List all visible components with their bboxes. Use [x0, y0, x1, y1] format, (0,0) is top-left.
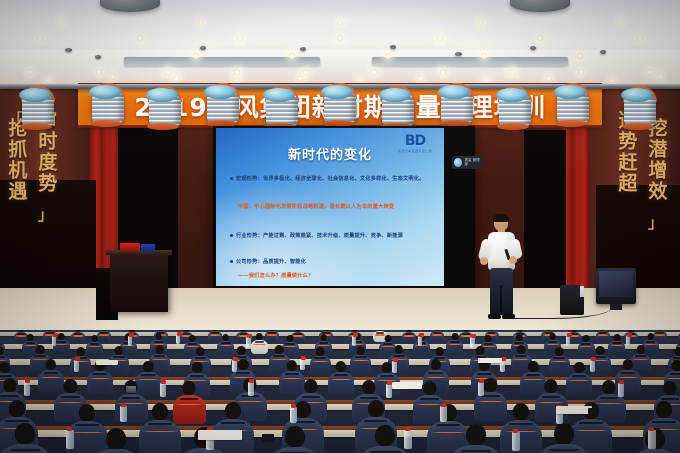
audience-head — [256, 333, 263, 340]
water-bottle — [470, 337, 475, 348]
ceiling-downlight — [637, 35, 643, 41]
uniform-collar — [548, 341, 558, 343]
uniform-collar — [600, 397, 618, 399]
audience-uniform — [89, 449, 143, 453]
uniform-collar — [113, 356, 125, 358]
uniform-collar — [572, 375, 587, 377]
audience-uniform — [177, 448, 231, 453]
uniform-collar — [285, 373, 300, 375]
water-bottle — [590, 360, 595, 372]
bullet-dot-icon — [230, 234, 233, 237]
stage-spotlight — [620, 92, 660, 128]
audience-member — [89, 428, 143, 453]
uniform-collar — [515, 355, 527, 357]
handout-paper — [478, 358, 502, 363]
audience-head — [663, 381, 676, 395]
uniform-collar — [549, 449, 579, 451]
ceiling-downlight — [338, 20, 343, 25]
ceiling-downlight — [481, 53, 487, 59]
ceiling-downlight — [37, 35, 43, 41]
ceiling-downlight — [610, 78, 615, 83]
audience-uniform — [71, 332, 85, 343]
uniform-collar — [364, 420, 388, 422]
uniform-collar — [553, 357, 565, 359]
handout-paper — [556, 406, 592, 414]
slide-bullet-text: 宏观形势：世界多极化、经济全球化、社会信息化、文化多样化、生态文明化。 — [236, 176, 425, 182]
audience-uniform — [608, 341, 625, 355]
water-bottle — [66, 430, 74, 449]
ceiling-downlight — [546, 76, 551, 81]
audience-head — [336, 361, 346, 372]
water-bottle — [478, 382, 484, 396]
audience-uniform — [328, 372, 354, 395]
uniform-shoulder-stripe — [252, 344, 266, 346]
ceiling-downlight — [198, 20, 203, 25]
uniform-collar — [141, 374, 156, 376]
audience-uniform — [0, 444, 52, 453]
audience-uniform — [537, 444, 591, 453]
badge-label: 质量 管理部 — [464, 159, 482, 167]
water-bottle — [386, 384, 392, 398]
stage-spotlight — [437, 89, 477, 125]
uniform-collar — [56, 341, 66, 343]
water-bottle — [648, 430, 656, 449]
ceiling-downlight — [658, 74, 663, 79]
audience-head — [196, 347, 205, 356]
uniform-shoulder-stripe — [72, 335, 84, 337]
uniform-collar — [314, 357, 326, 359]
uniform-collar — [148, 423, 172, 425]
water-bottle — [300, 359, 305, 370]
audience-head — [91, 335, 98, 342]
audience-member — [139, 403, 181, 453]
water-bottle — [176, 335, 180, 344]
handout-paper — [198, 430, 242, 440]
audience-head — [115, 346, 124, 355]
audience-head — [316, 347, 325, 356]
spotlight-lens — [554, 85, 586, 99]
audience-head — [647, 333, 654, 340]
water-bottle — [232, 360, 237, 372]
slide-subtext: 中国：中心国际化发展阶段战略机遇，是长期以人为本的重大转变 — [238, 203, 440, 211]
spotlight-ring — [497, 123, 529, 130]
bullet-dot-icon — [230, 260, 233, 263]
spotlight-ring — [90, 120, 122, 127]
audience-head — [0, 362, 10, 373]
spotlight-ring — [622, 123, 654, 130]
audience-head — [574, 362, 584, 373]
audience-head — [183, 381, 196, 395]
ceiling-downlight — [110, 74, 115, 79]
spotlight-lens — [379, 88, 411, 102]
uniform-collar — [255, 341, 265, 343]
audience-member — [537, 423, 591, 453]
water-bottle — [24, 382, 30, 396]
audience-head — [395, 345, 404, 354]
slide-bullet-text: 公司形势：品质提升、智能化 — [236, 259, 306, 265]
audience-head — [375, 425, 395, 446]
water-bottle — [74, 360, 79, 372]
audience-head — [36, 345, 45, 354]
blue-monitor — [141, 244, 155, 252]
stage-spotlight — [18, 92, 58, 128]
presenter-hair — [493, 214, 509, 222]
uniform-shoulder-stripe — [504, 431, 539, 433]
audience-head — [58, 333, 65, 340]
uniform-shoulder-stripe — [610, 345, 624, 347]
handout-paper — [392, 382, 422, 389]
ceiling-speaker — [530, 46, 536, 50]
ceiling-downlight — [484, 78, 489, 83]
bullet-dot-icon — [230, 177, 233, 180]
stage-spotlight — [145, 92, 185, 128]
audience-head — [623, 359, 633, 370]
audience-member — [268, 426, 322, 453]
stage-spotlight — [553, 89, 593, 125]
uniform-collar — [526, 374, 541, 376]
mobile-phone — [262, 434, 274, 442]
audience-member — [251, 333, 268, 354]
ceiling-downlight — [647, 69, 653, 75]
audience-head — [596, 346, 605, 355]
uniform-collar — [221, 422, 245, 424]
podium — [110, 252, 168, 312]
audience-head — [77, 347, 86, 356]
uniform-shoulder-stripe — [142, 431, 177, 433]
audience-head — [423, 381, 436, 395]
uniform-collar — [393, 355, 405, 357]
audience-head — [517, 345, 526, 354]
audience-head — [295, 401, 311, 418]
audience-head — [555, 347, 564, 356]
uniform-collar — [195, 357, 207, 359]
stage-spotlight — [203, 89, 243, 125]
uniform-collar — [302, 396, 320, 398]
uniform-shoulder-stripe — [568, 380, 590, 382]
audience-head — [9, 400, 25, 417]
spotlight-lens — [321, 85, 353, 99]
ceiling-downlight — [298, 76, 303, 81]
uniform-collar — [370, 451, 400, 453]
audience-head — [516, 334, 523, 341]
uniform-collar — [652, 421, 676, 423]
ceiling-speaker — [390, 45, 396, 49]
presenter-leg-gap — [500, 285, 502, 315]
ceiling-downlight — [46, 78, 51, 83]
stage-spotlight — [495, 92, 535, 128]
logo-subtitle: 东风汽车集团有限公司 — [398, 149, 432, 153]
uniform-collar — [673, 357, 680, 359]
water-bottle — [418, 336, 422, 346]
audience-head — [513, 403, 529, 420]
banner-bracket-icon: 」 — [648, 212, 663, 233]
audience-head — [675, 347, 680, 356]
uniform-collar — [10, 449, 40, 451]
slide-bullet: 行业形势：产能过剩、政策趋紧、技术升级、质量提升、竞争、新能源 — [230, 232, 432, 240]
uniform-collar — [90, 343, 100, 345]
spotlight-lens — [89, 85, 121, 99]
audience-member — [328, 361, 354, 395]
slide-question-text: ——我们怎么办？质量做什么？ — [238, 272, 440, 280]
ceiling-speaker — [65, 48, 72, 52]
audience-member — [71, 330, 85, 343]
ceiling-downlight — [174, 76, 179, 81]
uniform-shoulder-stripe — [431, 334, 443, 336]
uniform-collar — [670, 373, 680, 375]
ceiling-downlight — [289, 53, 295, 59]
spotlight-ring — [555, 120, 587, 127]
audience-head — [287, 360, 297, 371]
uniform-shoulder-stripe — [425, 377, 447, 379]
audience-uniform — [268, 447, 322, 453]
uniform-collar — [334, 374, 349, 376]
uniform-collar — [0, 356, 5, 358]
audience-member — [430, 330, 444, 342]
audience-head — [304, 379, 317, 393]
uniform-collar — [319, 342, 329, 344]
audience-head — [368, 400, 384, 417]
audience-head — [656, 401, 672, 418]
ceiling-downlight — [27, 69, 33, 75]
water-bottle — [120, 406, 127, 422]
audience-uniform — [628, 449, 680, 453]
audience-head — [237, 346, 246, 355]
stage-spotlight — [262, 92, 302, 128]
audience-head — [545, 379, 558, 393]
ceiling-downlight — [478, 20, 483, 25]
audience-head — [476, 346, 485, 355]
uniform-collar — [420, 398, 438, 400]
water-bottle — [52, 336, 56, 346]
audience-head — [155, 345, 164, 354]
uniform-shoulder-stripe — [546, 344, 560, 346]
audience-uniform — [449, 445, 503, 453]
presenter — [478, 215, 524, 321]
uniform-collar — [461, 450, 491, 452]
water-bottle — [352, 336, 356, 346]
mobile-phone — [588, 408, 597, 414]
logo-mark: BD — [398, 134, 432, 148]
audience-head — [27, 334, 34, 341]
uniform-collar — [273, 355, 285, 357]
uniform-shoulder-stripe — [330, 379, 352, 381]
uniform-collar — [5, 420, 29, 422]
presenter-hand-right — [509, 256, 517, 264]
ceiling-downlight — [237, 35, 243, 41]
ceiling-downlight — [303, 69, 309, 75]
audience-uniform — [566, 373, 592, 396]
spotlight-lens — [146, 88, 178, 102]
uniform-collar — [154, 355, 166, 357]
mobile-phone-screen — [126, 386, 136, 393]
water-bottle — [618, 383, 624, 397]
ceiling-downlight — [337, 35, 343, 41]
audience-head — [583, 335, 590, 342]
uniform-collar — [450, 341, 460, 343]
audience-area — [0, 330, 680, 453]
water-bottle — [248, 382, 254, 396]
uniform-collar — [75, 424, 99, 426]
spotlight-lens — [204, 85, 236, 99]
audience-uniform — [139, 420, 181, 453]
audience-member — [87, 360, 113, 394]
uniform-collar — [621, 372, 636, 374]
ceiling-speaker — [200, 46, 206, 50]
ceiling-speaker — [95, 55, 101, 59]
uniform-collar — [509, 423, 533, 425]
audience-member — [0, 423, 52, 453]
audience-uniform — [430, 331, 444, 342]
uniform-shoulder-stripe — [448, 344, 462, 346]
water-bottle — [246, 337, 251, 348]
audience-member — [566, 362, 592, 396]
uniform-collar — [612, 342, 622, 344]
audience-head — [320, 334, 327, 341]
audience-head — [603, 380, 616, 394]
water-bottle — [404, 430, 412, 449]
slide-bullet: 公司形势：品质提升、智能化 — [230, 258, 432, 266]
ceiling-speaker — [300, 47, 306, 51]
uniform-collar — [122, 397, 140, 399]
audience-member — [500, 403, 542, 453]
uniform-shoulder-stripe — [311, 361, 329, 363]
audience-head — [287, 335, 294, 342]
ceiling-downlight — [137, 35, 143, 41]
uniform-shoulder-stripe — [89, 378, 111, 380]
ceiling-downlight — [234, 78, 239, 83]
audience-head — [554, 423, 574, 444]
uniform-collar — [180, 398, 198, 400]
banner-bracket-icon: 」 — [38, 204, 53, 225]
department-badge: 质量 管理部 — [452, 156, 482, 169]
uniform-collar — [221, 342, 231, 344]
presenter-shoe-left — [488, 314, 501, 319]
right-monitor-screen — [599, 271, 633, 297]
presentation-slide: 新时代的变化 BD 东风汽车集团有限公司 宏观形势：世界多极化、经济全球化、社会… — [216, 128, 444, 286]
audience-head — [466, 424, 486, 445]
ceiling-downlight — [437, 35, 443, 41]
audience-head — [225, 402, 241, 419]
audience-head — [672, 360, 680, 371]
red-monitor — [120, 243, 140, 252]
ceiling-speaker — [600, 50, 606, 54]
audience-head — [357, 346, 366, 355]
audience-head — [79, 404, 95, 421]
stage-water-bottle — [580, 286, 584, 297]
uniform-collar — [477, 373, 492, 375]
spotlight-lens — [496, 88, 528, 102]
audience-head — [452, 333, 459, 340]
ceiling-downlight — [234, 69, 240, 75]
audience-head — [430, 359, 440, 370]
uniform-collar — [34, 355, 46, 357]
audience-head — [275, 345, 284, 354]
wall-alcove-right — [524, 130, 566, 290]
stage-spotlight — [88, 89, 128, 125]
audience-head — [189, 335, 196, 342]
audience-head — [192, 362, 202, 373]
ceiling — [0, 0, 680, 96]
audience-member — [449, 424, 503, 453]
uniform-collar — [188, 343, 198, 345]
stage-spotlight — [378, 92, 418, 128]
uniform-collar — [428, 372, 443, 374]
audience-member — [608, 334, 625, 355]
slide-bullet: 宏观形势：世界多极化、经济全球化、社会信息化、文化多样化、生态文明化。 — [230, 175, 432, 183]
water-bottle — [512, 432, 520, 451]
presenter-shoe-right — [502, 314, 515, 319]
company-logo: BD 东风汽车集团有限公司 — [398, 134, 432, 153]
audience-head — [614, 334, 621, 341]
spotlight-lens — [19, 88, 51, 102]
audience-uniform — [251, 340, 268, 354]
auditorium-photo: 「 抢抓机遇 审时度势 」 「 逆势赶超 挖潜增效 」 2019东风集团新时期质… — [0, 0, 680, 453]
ceiling-speaker — [455, 52, 462, 56]
audience-head — [106, 428, 126, 449]
uniform-collar — [635, 355, 647, 357]
audience-head — [3, 378, 16, 392]
water-bottle — [392, 361, 397, 373]
water-bottle — [566, 336, 570, 346]
uniform-shoulder-stripe — [352, 360, 370, 362]
audience-head — [435, 347, 444, 356]
audience-head — [223, 334, 230, 341]
spotlight-lens — [263, 88, 295, 102]
water-bottle — [128, 336, 132, 346]
side-banner-right-outer: 挖潜增效 — [646, 118, 665, 202]
ceiling-downlight — [96, 69, 102, 75]
water-bottle — [160, 383, 166, 397]
audience-head — [484, 378, 497, 392]
uniform-collar — [542, 396, 560, 398]
audience-head — [152, 403, 168, 420]
spotlight-lens — [621, 88, 653, 102]
audience-head — [155, 333, 162, 340]
water-bottle — [290, 407, 297, 423]
audience-head — [549, 333, 556, 340]
uniform-collar — [236, 372, 251, 374]
ceiling-downlight — [577, 53, 583, 59]
handout-paper — [96, 360, 118, 365]
water-bottle — [440, 406, 447, 422]
ceiling-downlight — [418, 76, 423, 81]
audience-head — [143, 361, 153, 372]
badge-emblem-icon — [454, 158, 462, 167]
uniform-collar — [380, 375, 395, 377]
audience-head — [637, 345, 646, 354]
side-banner-left-outer: 抢抓机遇 — [6, 118, 25, 202]
uniform-collar — [355, 356, 367, 358]
ceiling-downlight — [165, 69, 171, 75]
audience-head — [46, 359, 56, 370]
ceiling-downlight — [385, 53, 391, 59]
uniform-collar — [154, 341, 164, 343]
uniform-collar — [0, 375, 12, 377]
audience-uniform — [500, 420, 542, 453]
spotlight-ring — [147, 123, 179, 130]
ceiling-downlight — [193, 53, 199, 59]
audience-uniform — [87, 371, 113, 394]
audience-head — [15, 423, 35, 444]
audience-head — [528, 361, 538, 372]
uniform-collar — [190, 375, 205, 377]
uniform-collar — [61, 396, 79, 398]
uniform-collar — [0, 395, 18, 397]
spotlight-lens — [438, 85, 470, 99]
spotlight-ring — [20, 123, 52, 130]
audience-head — [285, 426, 305, 447]
uniform-collar — [92, 373, 107, 375]
